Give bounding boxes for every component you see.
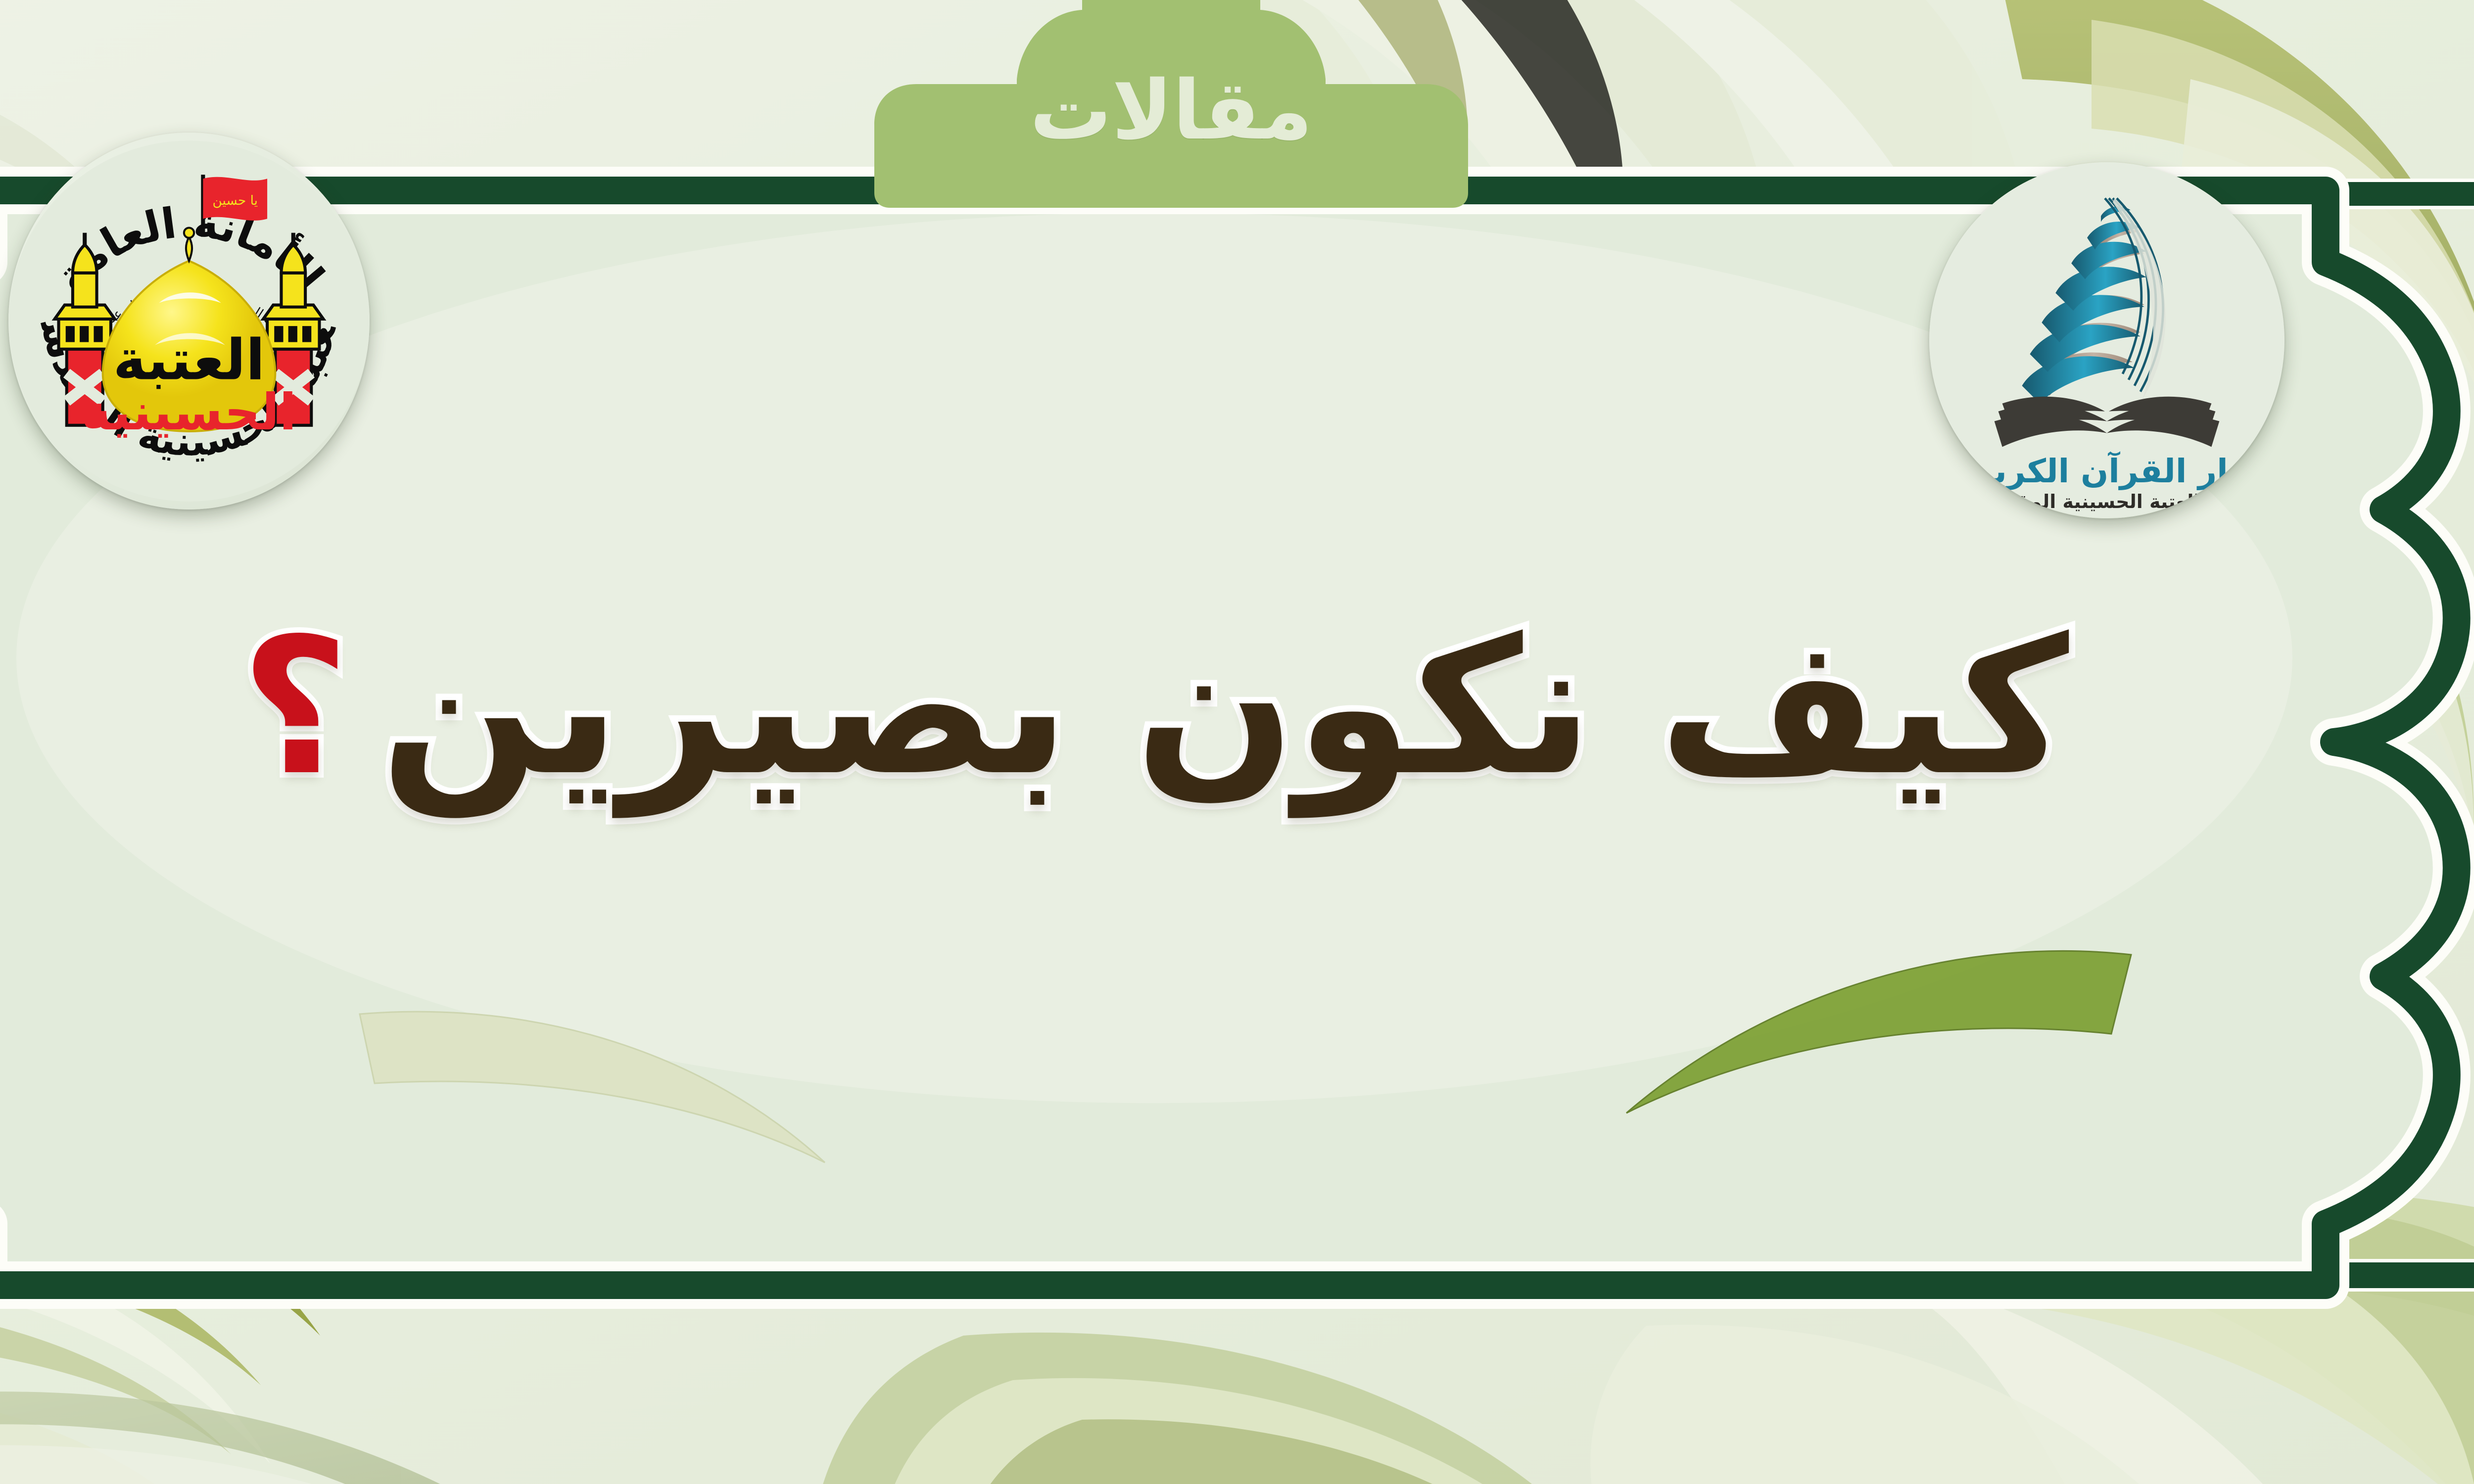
main-title-area: كيف نكون بصيرين؟ <box>0 519 2474 895</box>
articles-tab[interactable]: مقالات <box>850 0 1493 208</box>
dar-al-quran-al-kareem-logo[interactable]: دار القرآن الكريم في العتبة الحسينية الم… <box>1929 162 2284 518</box>
question-mark: ؟ <box>240 598 349 817</box>
svg-text:الحسينية: الحسينية <box>82 383 296 441</box>
page-title: كيف نكون بصيرين؟ <box>240 611 2069 803</box>
poster-canvas: مقالات الأمانة العامة الع <box>0 0 2474 1484</box>
svg-text:دار القرآن الكريم: دار القرآن الكريم <box>1969 451 2244 490</box>
svg-text:يا حسين: يا حسين <box>212 193 257 208</box>
page-title-text: كيف نكون بصيرين <box>380 598 2069 817</box>
articles-tab-label: مقالات <box>850 53 1493 167</box>
al-ataba-al-husayniya-emblem[interactable]: الأمانة العامة العتبة الحسينية المقدسة ب… <box>8 133 370 510</box>
